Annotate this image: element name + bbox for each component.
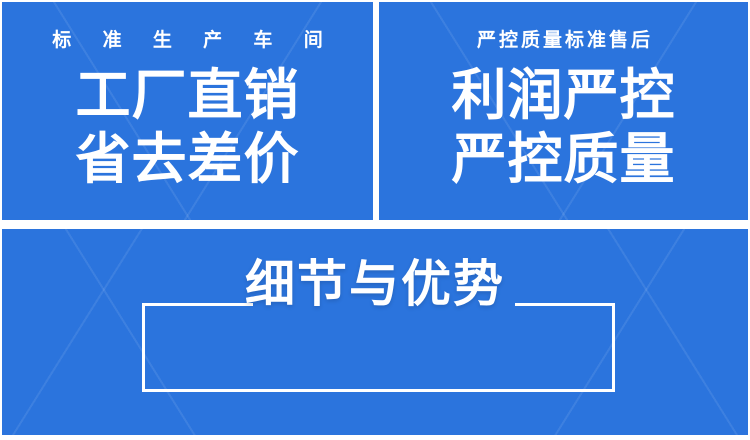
eyebrow-quality-after-sales: 严控质量标准售后 [474,31,653,50]
panel-factory-direct: 标 准 生 产 车 间 工厂直销 省去差价 [2,2,373,220]
eyebrow-standard-workshop: 标 准 生 产 车 间 [39,31,335,50]
title-details-advantages: 细节与优势 [2,259,748,309]
headline-quality-control-line1: 利润严控 [451,64,675,128]
panel-factory-direct-content: 标 准 生 产 车 间 工厂直销 省去差价 [2,2,373,220]
headline-factory-direct-line2: 省去差价 [75,128,299,192]
panel-quality-control: 严控质量标准售后 利润严控 严控质量 [379,2,748,220]
feature-box-frame [142,303,615,392]
headline-factory-direct-line1: 工厂直销 [75,64,299,128]
promo-banner: 标 准 生 产 车 间 工厂直销 省去差价 严控质量标准售后 利润严控 严控质量… [0,0,750,440]
panel-details-advantages: 细节与优势 不怕货比，就怕不识货 [2,229,748,435]
headline-quality-control-line2: 严控质量 [451,128,675,192]
panel-quality-control-content: 严控质量标准售后 利润严控 严控质量 [379,2,748,220]
